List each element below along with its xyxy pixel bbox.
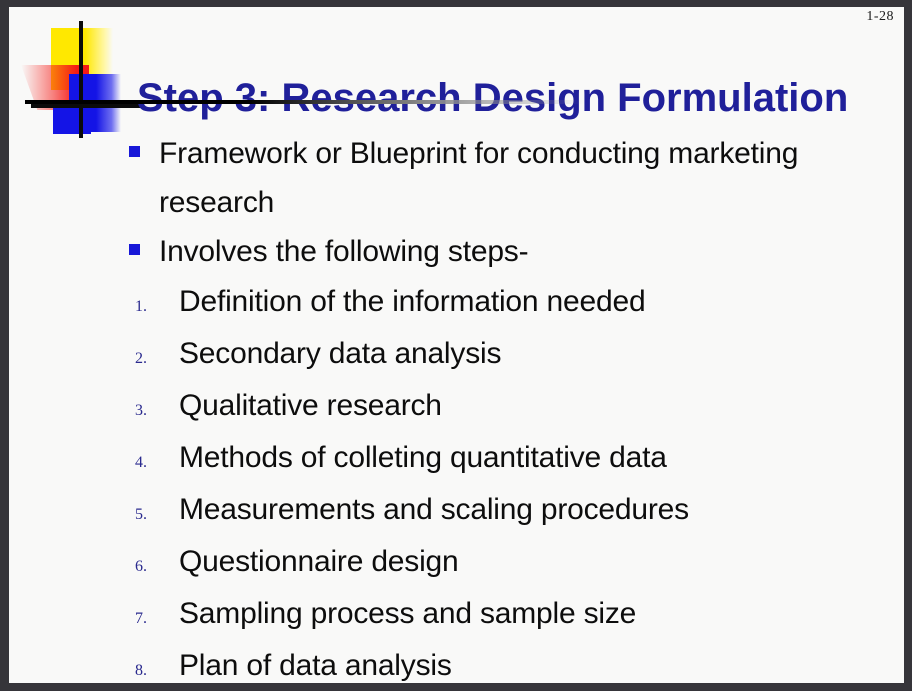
bullet-item: Framework or Blueprint for conducting ma… — [9, 129, 904, 227]
numbered-list-item-label: Methods of colleting quantitative data — [179, 432, 667, 484]
list-number: 4. — [135, 454, 179, 472]
numbered-list-item: 7. Sampling process and sample size — [9, 588, 904, 640]
numbered-list-item-label: Plan of data analysis — [179, 640, 452, 683]
numbered-list-item: 2. Secondary data analysis — [9, 328, 904, 380]
numbered-list-item: 6. Questionnaire design — [9, 536, 904, 588]
bullet-item-label: Framework or Blueprint for conducting ma… — [159, 129, 904, 227]
logo-horizontal-line-icon — [31, 104, 141, 108]
numbered-list-item-label: Definition of the information needed — [179, 276, 645, 328]
list-number: 2. — [135, 350, 179, 368]
list-number: 5. — [135, 506, 179, 524]
numbered-list-item: 8. Plan of data analysis — [9, 640, 904, 683]
slide-frame: 1-28 Step 3: Research Design Formulation… — [0, 0, 912, 691]
numbered-list-item: 3. Qualitative research — [9, 380, 904, 432]
page-number: 1-28 — [866, 9, 894, 25]
numbered-list-item-label: Qualitative research — [179, 380, 442, 432]
numbered-list-item: 4. Methods of colleting quantitative dat… — [9, 432, 904, 484]
list-number: 3. — [135, 402, 179, 420]
numbered-list-item: 1. Definition of the information needed — [9, 276, 904, 328]
slide-body: Framework or Blueprint for conducting ma… — [9, 129, 904, 683]
numbered-list-item-label: Measurements and scaling procedures — [179, 484, 689, 536]
square-bullet-icon — [129, 129, 159, 157]
numbered-list-item-label: Questionnaire design — [179, 536, 459, 588]
numbered-list-item-label: Sampling process and sample size — [179, 588, 636, 640]
logo-vertical-line-icon — [79, 21, 83, 138]
slide-title: Step 3: Research Design Formulation — [137, 74, 848, 122]
list-number: 7. — [135, 610, 179, 628]
bullet-item: Involves the following steps- — [9, 227, 904, 276]
bullet-item-label: Involves the following steps- — [159, 227, 528, 276]
list-number: 1. — [135, 298, 179, 316]
numbered-list-item-label: Secondary data analysis — [179, 328, 501, 380]
list-number: 8. — [135, 662, 179, 680]
decorative-logo — [21, 12, 139, 137]
list-number: 6. — [135, 558, 179, 576]
square-bullet-icon — [129, 227, 159, 255]
numbered-list-item: 5. Measurements and scaling procedures — [9, 484, 904, 536]
title-divider — [25, 100, 585, 104]
slide-canvas: 1-28 Step 3: Research Design Formulation… — [9, 7, 904, 683]
